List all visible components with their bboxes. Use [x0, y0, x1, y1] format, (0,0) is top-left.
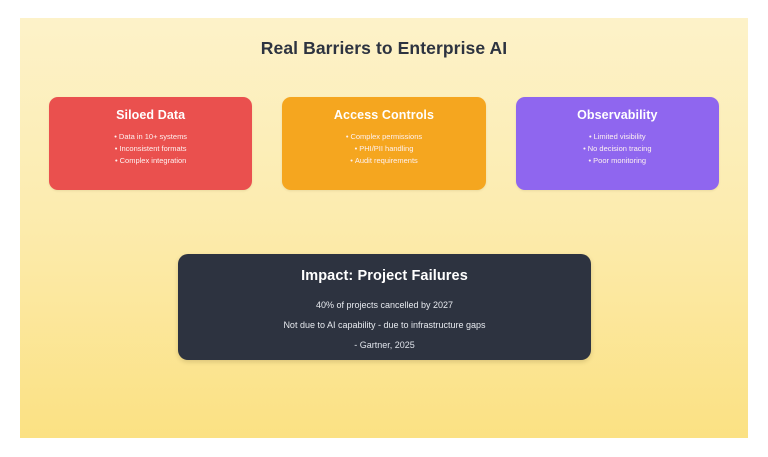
- barrier-point: •Inconsistent formats: [59, 143, 242, 155]
- impact-stat-line: 40% of projects cancelled by 2027: [316, 295, 453, 315]
- barrier-card-observability[interactable]: Observability •Limited visibility •No de…: [516, 97, 719, 190]
- barrier-point-label: Limited visibility: [594, 132, 646, 141]
- barrier-card-title: Access Controls: [334, 108, 434, 122]
- bullet-icon: •: [355, 145, 358, 153]
- barrier-point-label: No decision tracing: [588, 144, 652, 153]
- slide-canvas: Real Barriers to Enterprise AI Siloed Da…: [20, 18, 748, 438]
- barrier-point-label: Data in 10+ systems: [119, 132, 187, 141]
- bullet-icon: •: [583, 145, 586, 153]
- barrier-point-label: Audit requirements: [355, 156, 418, 165]
- barrier-card-group: Siloed Data •Data in 10+ systems •Incons…: [49, 97, 719, 190]
- page-title: Real Barriers to Enterprise AI: [20, 38, 748, 59]
- bullet-icon: •: [350, 157, 353, 165]
- barrier-card-title: Observability: [577, 108, 658, 122]
- barrier-point: •Data in 10+ systems: [59, 131, 242, 143]
- barrier-point-list: •Data in 10+ systems •Inconsistent forma…: [59, 131, 242, 167]
- barrier-point-list: •Limited visibility •No decision tracing…: [526, 131, 709, 167]
- barrier-point: •Complex integration: [59, 155, 242, 167]
- barrier-point: •Limited visibility: [526, 131, 709, 143]
- barrier-point-label: Poor monitoring: [593, 156, 646, 165]
- barrier-point-label: Inconsistent formats: [119, 144, 186, 153]
- impact-title: Impact: Project Failures: [301, 268, 468, 284]
- impact-explanation-line: Not due to AI capability - due to infras…: [283, 315, 485, 335]
- bullet-icon: •: [115, 145, 118, 153]
- barrier-card-siloed-data[interactable]: Siloed Data •Data in 10+ systems •Incons…: [49, 97, 252, 190]
- bullet-icon: •: [589, 157, 592, 165]
- barrier-card-title: Siloed Data: [116, 108, 185, 122]
- bullet-icon: •: [115, 157, 118, 165]
- barrier-point-list: •Complex permissions •PHI/PII handling •…: [292, 131, 475, 167]
- barrier-point-label: Complex permissions: [350, 132, 422, 141]
- impact-attribution: - Gartner, 2025: [354, 335, 415, 355]
- barrier-point-label: Complex integration: [120, 156, 187, 165]
- barrier-point: •PHI/PII handling: [292, 143, 475, 155]
- barrier-point: •Complex permissions: [292, 131, 475, 143]
- barrier-point: •No decision tracing: [526, 143, 709, 155]
- barrier-point-label: PHI/PII handling: [359, 144, 413, 153]
- barrier-card-access-controls[interactable]: Access Controls •Complex permissions •PH…: [282, 97, 485, 190]
- barrier-point: •Audit requirements: [292, 155, 475, 167]
- bullet-icon: •: [589, 133, 592, 141]
- barrier-point: •Poor monitoring: [526, 155, 709, 167]
- impact-callout-box: Impact: Project Failures 40% of projects…: [178, 254, 591, 360]
- bullet-icon: •: [346, 133, 349, 141]
- bullet-icon: •: [114, 133, 117, 141]
